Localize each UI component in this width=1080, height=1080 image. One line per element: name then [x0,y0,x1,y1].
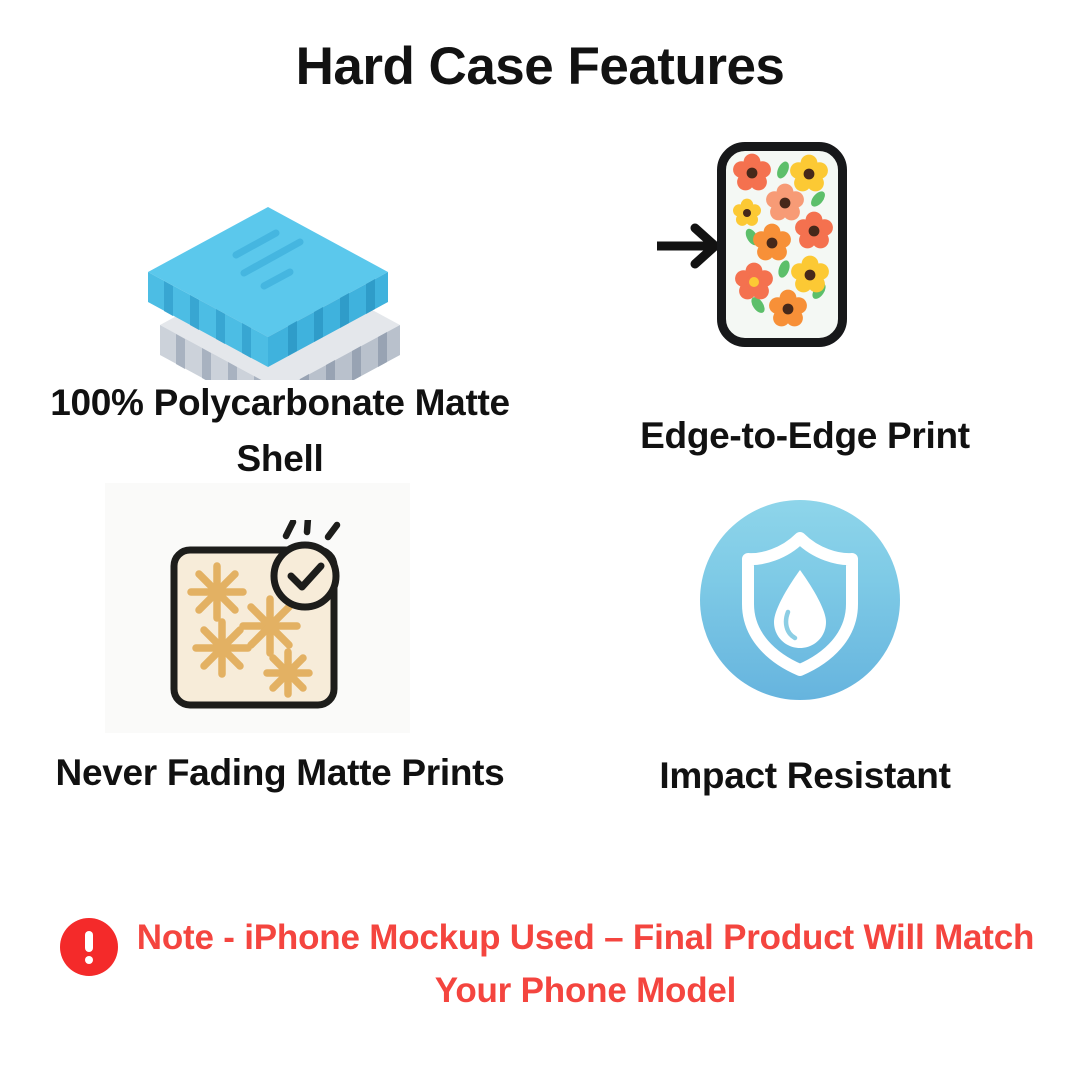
arrow-right-icon [655,222,725,270]
feature-label-never-fading-prints: Never Fading Matte Prints [20,745,540,801]
flower [735,263,773,300]
page-title: Hard Case Features [0,36,1080,97]
note-text: Note - iPhone Mockup Used – Final Produc… [136,912,1045,1017]
feature-infographic: Hard Case Features [0,0,1080,1080]
flower [790,155,828,192]
flower [795,212,833,249]
feature-label-impact-resistant: Impact Resistant [545,748,1065,804]
exclamation-badge-icon [60,918,118,976]
stacked-layers-icon [140,160,420,380]
icon-circle-background [700,500,900,700]
feature-card-never-fading-prints: Never Fading Matte Prints [20,470,540,870]
matte-print-sparkle-check-icon [160,520,365,720]
feature-label-edge-to-edge-print: Edge-to-Edge Print [545,408,1065,464]
check-circle-icon [274,520,337,607]
feature-card-edge-to-edge-print: Edge-to-Edge Print [545,130,1065,470]
note-banner: Note - iPhone Mockup Used – Final Produc… [60,912,1045,1017]
flower [733,199,761,226]
feature-card-polycarbonate-shell: 100% Polycarbonate Matte Shell [20,150,540,480]
flower [769,290,807,327]
badge-rays [286,520,337,537]
flower [753,224,791,261]
water-drop [774,570,826,648]
feature-card-impact-resistant: Impact Resistant [545,490,1065,850]
flower [791,256,829,293]
shield-water-drop-icon [700,500,915,715]
phone-case-floral-print-icon [655,130,955,380]
phone-case-frame [717,142,847,347]
flower [733,154,771,191]
